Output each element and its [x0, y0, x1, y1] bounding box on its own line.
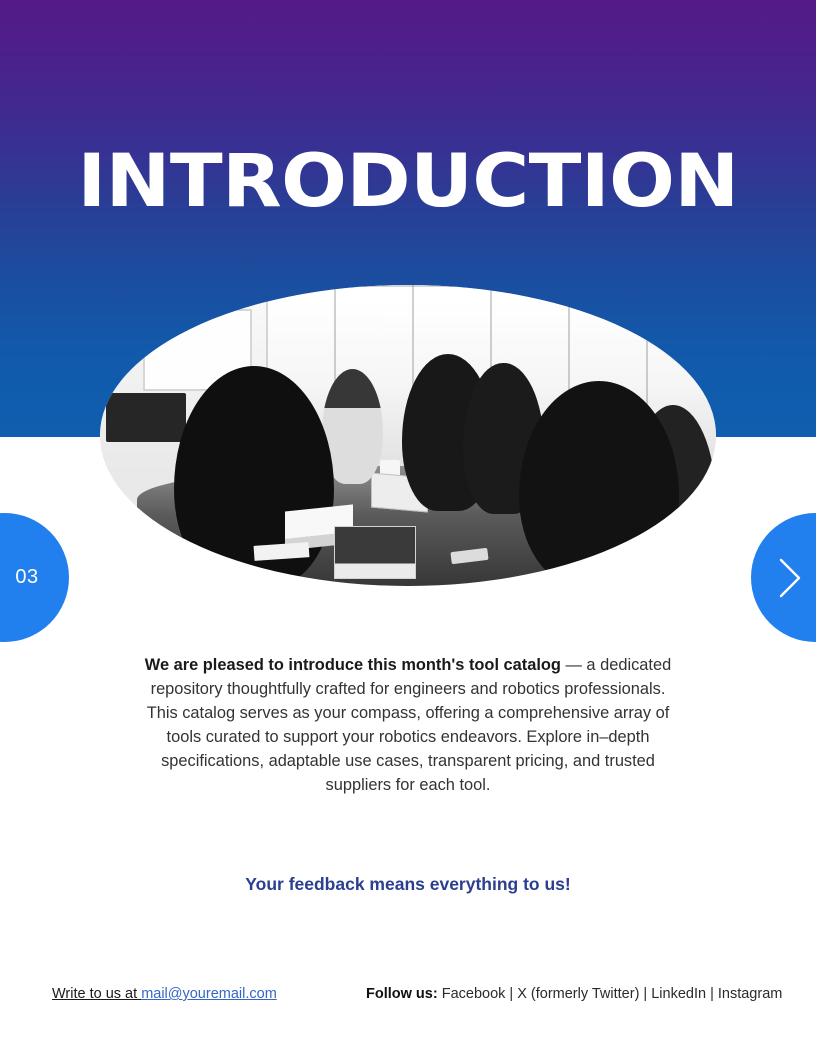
hero-image	[100, 285, 716, 586]
hero-image-content	[100, 285, 716, 586]
footer-social: Follow us: Facebook | X (formerly Twitte…	[366, 986, 782, 1002]
page-number-badge: 03	[0, 513, 69, 642]
follow-us-label: Follow us:	[366, 986, 438, 1002]
page-number-label: 03	[0, 566, 39, 589]
chevron-right-icon	[777, 556, 803, 600]
feedback-message: Your feedback means everything to us!	[0, 874, 816, 895]
footer-contact: Write to us at mail@youremail.com	[52, 986, 277, 1002]
photo-monitor	[106, 393, 186, 441]
next-page-button[interactable]	[751, 513, 816, 642]
photo-laptop-center	[334, 526, 416, 579]
social-networks-list: Facebook | X (formerly Twitter) | Linked…	[438, 986, 783, 1002]
email-link[interactable]: mail@youremail.com	[141, 986, 277, 1002]
intro-paragraph-lead: We are pleased to introduce this month's…	[145, 656, 561, 674]
intro-paragraph: We are pleased to introduce this month's…	[143, 653, 673, 797]
write-to-us-label: Write to us at	[52, 986, 141, 1002]
intro-paragraph-rest: — a dedicated repository thoughtfully cr…	[147, 656, 672, 794]
page-title: INTRODUCTION	[0, 139, 816, 225]
